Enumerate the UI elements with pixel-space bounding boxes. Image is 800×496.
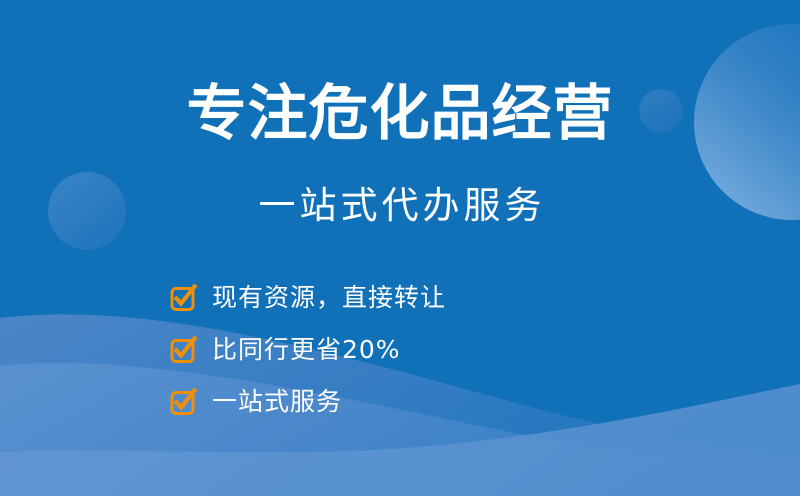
banner-content: 专注危化品经营 一站式代办服务 现有资源，直接转让 [0,0,800,496]
page-subtitle: 一站式代办服务 [0,182,800,230]
checkbox-checked-icon [170,337,196,363]
checkbox-checked-icon [170,285,196,311]
list-item-label: 现有资源，直接转让 [212,283,446,313]
page-title: 专注危化品经营 [0,78,800,150]
promo-banner: 专注危化品经营 一站式代办服务 现有资源，直接转让 [0,0,800,496]
list-item: 比同行更省20% [170,324,600,376]
list-item-label: 比同行更省20% [212,335,401,365]
checkbox-checked-icon [170,389,196,415]
list-item: 现有资源，直接转让 [170,272,600,324]
list-item-label: 一站式服务 [212,387,342,417]
feature-list: 现有资源，直接转让 比同行更省20% 一站式 [170,272,600,428]
list-item: 一站式服务 [170,376,600,428]
